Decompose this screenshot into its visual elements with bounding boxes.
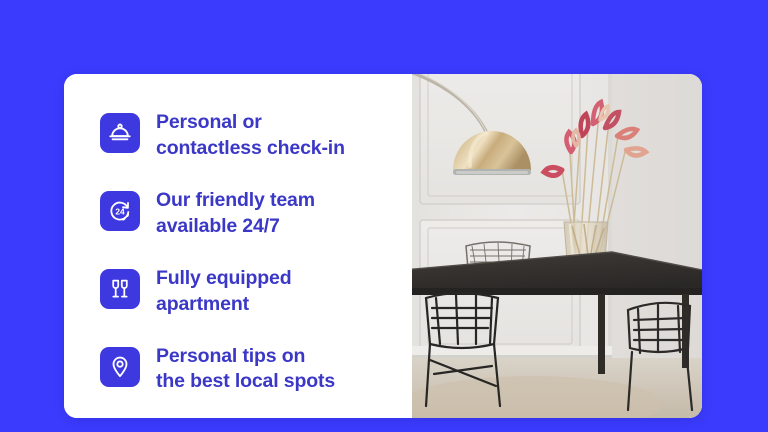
- icon-badge-24: 24: [115, 206, 125, 216]
- 24-7-clock-arrow-icon: 24: [100, 191, 140, 231]
- service-bell-icon: [100, 113, 140, 153]
- feature-label-line: Personal or: [156, 110, 345, 136]
- feature-item-apartment: Fully equipped apartment: [100, 266, 412, 318]
- feature-label-line: Personal tips on: [156, 344, 335, 370]
- feature-item-check-in: Personal or contactless check-in: [100, 110, 412, 162]
- feature-label-line: the best local spots: [156, 369, 335, 395]
- slide-canvas: Personal or contactless check-in 24: [0, 0, 768, 432]
- feature-label-line: apartment: [156, 292, 292, 318]
- interior-photo: [412, 74, 702, 418]
- features-panel: Personal or contactless check-in 24: [64, 74, 412, 418]
- feature-label-line: Our friendly team: [156, 188, 315, 214]
- feature-label-local-tips: Personal tips on the best local spots: [156, 344, 335, 396]
- feature-label-line: available 24/7: [156, 214, 315, 240]
- feature-label-apartment: Fully equipped apartment: [156, 266, 292, 318]
- feature-label-line: contactless check-in: [156, 136, 345, 162]
- map-pin-icon: [100, 347, 140, 387]
- feature-card: Personal or contactless check-in 24: [64, 74, 702, 418]
- feature-label-line: Fully equipped: [156, 266, 292, 292]
- feature-item-support: 24 Our friendly team available 24/7: [100, 188, 412, 240]
- feature-label-support: Our friendly team available 24/7: [156, 188, 315, 240]
- two-wine-glasses-icon: [100, 269, 140, 309]
- feature-label-check-in: Personal or contactless check-in: [156, 110, 345, 162]
- feature-item-local-tips: Personal tips on the best local spots: [100, 344, 412, 396]
